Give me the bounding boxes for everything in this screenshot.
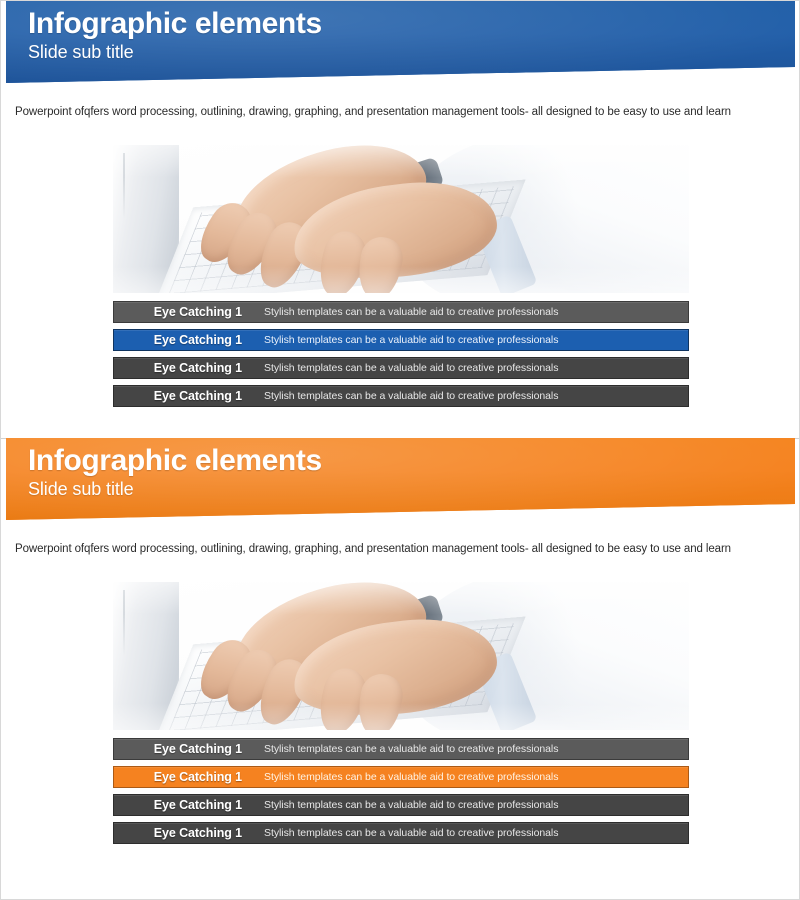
infographic-page: Infographic elements Slide sub title Pow… [0,0,800,900]
bar-title: Eye Catching 1 [114,742,254,756]
bar-row[interactable]: Eye Catching 1 Stylish templates can be … [113,385,689,407]
photo-canvas [113,582,689,730]
bar-title: Eye Catching 1 [114,798,254,812]
page-title: Infographic elements [28,444,322,478]
bar-title: Eye Catching 1 [114,770,254,784]
bar-row[interactable]: Eye Catching 1 Stylish templates can be … [113,822,689,844]
bar-row[interactable]: Eye Catching 1 Stylish templates can be … [113,357,689,379]
bar-list-orange: Eye Catching 1 Stylish templates can be … [113,738,689,844]
banner-text-group: Infographic elements Slide sub title [28,7,322,63]
photo-canvas [113,145,689,293]
banner-orange: Infographic elements Slide sub title [6,438,795,520]
bar-description: Stylish templates can be a valuable aid … [254,334,688,346]
bar-title: Eye Catching 1 [114,389,254,403]
hands-typing-photo [113,145,689,293]
bar-description: Stylish templates can be a valuable aid … [254,306,688,318]
banner-blue-wrapper: Infographic elements Slide sub title [1,1,799,87]
bar-description: Stylish templates can be a valuable aid … [254,799,688,811]
bar-title: Eye Catching 1 [114,826,254,840]
bar-title: Eye Catching 1 [114,361,254,375]
banner-blue: Infographic elements Slide sub title [6,1,795,83]
bar-description: Stylish templates can be a valuable aid … [254,390,688,402]
hands-typing-photo [113,582,689,730]
bar-row[interactable]: Eye Catching 1 Stylish templates can be … [113,301,689,323]
bar-title: Eye Catching 1 [114,305,254,319]
bar-description: Stylish templates can be a valuable aid … [254,771,688,783]
banner-orange-wrapper: Infographic elements Slide sub title [1,438,799,524]
slide-orange: Infographic elements Slide sub title Pow… [1,438,799,899]
bar-description: Stylish templates can be a valuable aid … [254,743,688,755]
bar-list-blue: Eye Catching 1 Stylish templates can be … [113,301,689,407]
bar-row[interactable]: Eye Catching 1 Stylish templates can be … [113,794,689,816]
banner-text-group: Infographic elements Slide sub title [28,444,322,500]
bar-title: Eye Catching 1 [114,333,254,347]
bar-row[interactable]: Eye Catching 1 Stylish templates can be … [113,738,689,760]
bar-row[interactable]: Eye Catching 1 Stylish templates can be … [113,766,689,788]
lead-paragraph: Powerpoint ofqfers word processing, outl… [1,524,799,556]
bar-description: Stylish templates can be a valuable aid … [254,827,688,839]
lead-paragraph: Powerpoint ofqfers word processing, outl… [1,87,799,119]
page-subtitle: Slide sub title [28,41,322,63]
page-subtitle: Slide sub title [28,478,322,500]
slide-blue: Infographic elements Slide sub title Pow… [1,1,799,438]
bar-row[interactable]: Eye Catching 1 Stylish templates can be … [113,329,689,351]
bar-description: Stylish templates can be a valuable aid … [254,362,688,374]
page-title: Infographic elements [28,7,322,41]
